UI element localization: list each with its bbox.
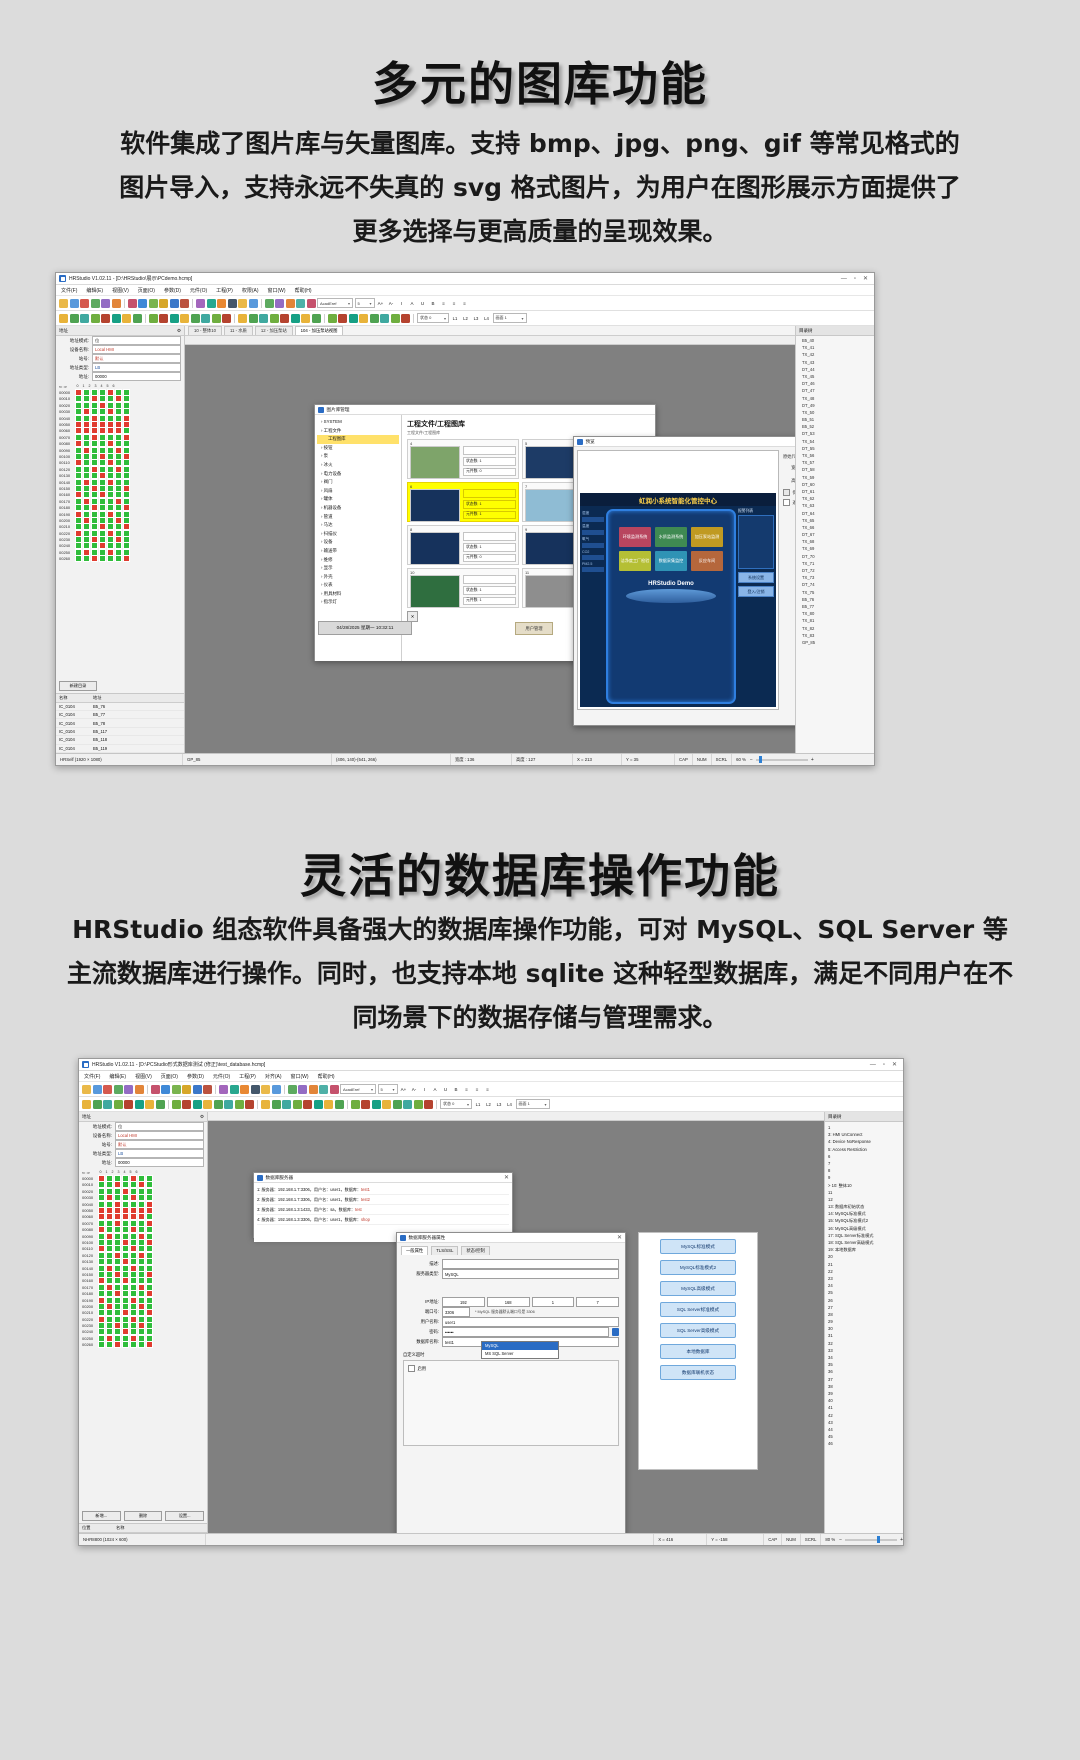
toolbar-icon-30[interactable] <box>382 1100 391 1109</box>
demo-button-3[interactable]: SQL Server标准模式 <box>660 1302 736 1317</box>
toolbar-icon-28[interactable] <box>338 314 347 323</box>
toolbar-icon-19[interactable] <box>272 1085 281 1094</box>
tree-item[interactable]: 34 <box>828 1354 903 1361</box>
toolbar-icon-10[interactable] <box>159 299 168 308</box>
bit-cell[interactable] <box>146 1341 153 1348</box>
font-family-combo[interactable]: AcadEref▾ <box>317 298 353 308</box>
toolbar-icon-5[interactable] <box>112 299 121 308</box>
tree-item[interactable]: TX_65 <box>802 517 874 524</box>
layer-toggle-1[interactable]: L2 <box>484 1100 493 1109</box>
server-list-close-icon[interactable]: ✕ <box>504 1175 509 1181</box>
picture-card-2[interactable]: 6状态数: 1元件数: 1 <box>407 482 519 522</box>
tree-item[interactable]: 36 <box>828 1368 903 1375</box>
menu-item-2[interactable]: 视图(V) <box>135 1073 152 1080</box>
toolbar-icon-0[interactable] <box>82 1085 91 1094</box>
field-value-2[interactable]: 默认 <box>92 354 181 363</box>
field-value-2[interactable]: 默认 <box>115 1140 204 1149</box>
toolbar-icon-16[interactable] <box>245 1100 254 1109</box>
address-button-0[interactable]: 新增... <box>82 1511 121 1521</box>
close-icon[interactable]: ✕ <box>863 276 868 282</box>
new-directory-button[interactable]: 新建目录 <box>59 681 97 691</box>
tree-item[interactable]: TX_66 <box>802 524 874 531</box>
tree-item[interactable]: DT_47 <box>802 387 874 394</box>
toolbar-icon-25[interactable] <box>307 299 316 308</box>
toolbar-icon-15[interactable] <box>235 1100 244 1109</box>
tree-item[interactable]: TX_81 <box>802 617 874 624</box>
page-tab-1[interactable]: 11 - 水质 <box>224 326 253 335</box>
hmi-button-3[interactable]: 洁净度工厂检验 <box>619 551 651 571</box>
option-mssql[interactable]: MS SQL Server <box>482 1350 558 1358</box>
toolbar-icon-11[interactable] <box>193 1100 202 1109</box>
toolbar-icon-7[interactable] <box>128 299 137 308</box>
tree-item[interactable]: DT_67 <box>802 531 874 538</box>
bit-nav-icon[interactable]: ⇐ ⇒ <box>82 1170 97 1175</box>
desc-input[interactable] <box>442 1259 619 1269</box>
toolbar-icon-16[interactable] <box>217 299 226 308</box>
tree-item[interactable]: DT_44 <box>802 366 874 373</box>
toolbar-icon-1[interactable] <box>70 299 79 308</box>
tree-item[interactable]: 46 <box>828 1440 903 1447</box>
text-style-5[interactable]: B <box>452 1085 461 1094</box>
toolbar-icon-0[interactable] <box>59 314 68 323</box>
tree-item[interactable]: TX_42 <box>802 351 874 358</box>
pic-tree-node-9[interactable]: › 罐体 <box>317 495 399 504</box>
toolbar-icon-9[interactable] <box>172 1085 181 1094</box>
tree-item[interactable]: TX_43 <box>802 359 874 366</box>
toolbar-icon-33[interactable] <box>391 314 400 323</box>
toolbar-icon-7[interactable] <box>133 314 142 323</box>
toolbar-icon-14[interactable] <box>196 299 205 308</box>
demo-button-6[interactable]: 数据库联机状态 <box>660 1365 736 1380</box>
tree-item[interactable]: 27 <box>828 1304 903 1311</box>
menu-item-0[interactable]: 文件(F) <box>84 1073 100 1080</box>
field-value-3[interactable]: LB <box>115 1149 204 1158</box>
bit-cell[interactable] <box>123 555 130 562</box>
zoom-slider[interactable] <box>845 1539 897 1541</box>
bit-cell[interactable] <box>91 555 98 562</box>
panel-pin-icon[interactable]: ⚙ <box>200 1114 204 1120</box>
toolbar-icon-25[interactable] <box>335 1100 344 1109</box>
tree-item[interactable]: 16: MySQL高级模式 <box>828 1225 903 1232</box>
pic-tree-node-18[interactable]: › 外壳 <box>317 573 399 582</box>
toolbar-icon-9[interactable] <box>149 314 158 323</box>
text-style-6[interactable]: ≡ <box>439 299 448 308</box>
toolbar-icon-31[interactable] <box>393 1100 402 1109</box>
picture-card-4[interactable]: 8状态数: 1元件数: 0 <box>407 525 519 565</box>
hmi-button-0[interactable]: 环境监测系统 <box>619 527 651 547</box>
toolbar-icon-5[interactable] <box>112 314 121 323</box>
address-button-1[interactable]: 删除 <box>124 1511 163 1521</box>
layer-toggle-0[interactable]: L1 <box>474 1100 483 1109</box>
user-management-button[interactable]: 用户管理 <box>515 622 553 635</box>
text-style-1[interactable]: A- <box>410 1085 419 1094</box>
tree-item[interactable]: 37 <box>828 1376 903 1383</box>
ip-octet-0[interactable]: 192 <box>442 1297 485 1307</box>
pic-tree-node-4[interactable]: › 泵 <box>317 452 399 461</box>
bit-cell[interactable] <box>107 555 114 562</box>
toolbar-icon-12[interactable] <box>180 314 189 323</box>
tree-item[interactable]: 42 <box>828 1412 903 1419</box>
field-value-0[interactable]: 位 <box>115 1122 204 1131</box>
font-size-combo[interactable]: 5▾ <box>378 1084 398 1094</box>
tree-item[interactable]: TX_73 <box>802 574 874 581</box>
db-properties-tabs[interactable]: 一般属性TLS/SSL状态/控制 <box>397 1243 625 1255</box>
tree-item[interactable]: B5_76 <box>802 596 874 603</box>
tree-item[interactable]: 32 <box>828 1340 903 1347</box>
menu-item-9[interactable]: 帮助(H) <box>295 287 312 294</box>
toolbar-icon-32[interactable] <box>380 314 389 323</box>
tree-item[interactable]: DT_55 <box>802 445 874 452</box>
state-combo[interactable]: 状态 0▾ <box>440 1099 472 1109</box>
maximize-icon[interactable]: ▫ <box>854 276 856 282</box>
hmi-button-grid[interactable]: 环境监测系统水质监测系统加压泵站监测洁净度工厂检验数据采集监控反应车间 <box>608 511 734 571</box>
field-value-0[interactable]: 位 <box>92 336 181 345</box>
toolbar-icon-4[interactable] <box>101 314 110 323</box>
toolbar-icon-33[interactable] <box>414 1100 423 1109</box>
tree-item[interactable]: TX_62 <box>802 495 874 502</box>
keep-ratio-checkbox[interactable] <box>783 489 790 496</box>
server-row-1[interactable]: 2: 服务器：192.168.1.7:3306，用户名：user1，数据库：te… <box>257 1195 509 1205</box>
db-properties-close-icon[interactable]: ✕ <box>617 1235 622 1241</box>
picture-name-input[interactable] <box>463 575 516 584</box>
toolbar-icon-13[interactable] <box>214 1100 223 1109</box>
bit-nav-icon[interactable]: ⇐ ⇒ <box>59 384 74 389</box>
tree-item[interactable]: 19: 本地数据库 <box>828 1246 903 1253</box>
layer-toggle-3[interactable]: L4 <box>505 1100 514 1109</box>
hmi-button-5[interactable]: 反应车间 <box>691 551 723 571</box>
text-style-0[interactable]: A+ <box>376 299 385 308</box>
toolbar-icon-30[interactable] <box>359 314 368 323</box>
toolbar-icon-12[interactable] <box>203 1085 212 1094</box>
bit-cell[interactable] <box>99 555 106 562</box>
toolbar-icon-5[interactable] <box>135 1085 144 1094</box>
toolbar-icon-2[interactable] <box>80 299 89 308</box>
toolbar-icon-1[interactable] <box>70 314 79 323</box>
toolbar-icon-15[interactable] <box>230 1085 239 1094</box>
demo-button-4[interactable]: SQL Server高级模式 <box>660 1323 736 1338</box>
hmi-button-1[interactable]: 水质监测系统 <box>655 527 687 547</box>
toolbar-icon-6[interactable] <box>145 1100 154 1109</box>
bit-cell[interactable] <box>122 1341 129 1348</box>
pic-tree-node-3[interactable]: › 按钮 <box>317 444 399 453</box>
tree-item[interactable]: 4: Device NoResponse <box>828 1138 903 1145</box>
tree-item[interactable]: TX_56 <box>802 452 874 459</box>
tree-item[interactable]: DT_46 <box>802 380 874 387</box>
page-tab-0[interactable]: 10 - 整体10 <box>188 326 222 335</box>
menu-item-8[interactable]: 窗口(W) <box>291 1073 309 1080</box>
picture-card-0[interactable]: 4状态数: 1元件数: 0 <box>407 439 519 479</box>
tree-item[interactable]: > 10: 整体10 <box>828 1182 903 1189</box>
toolbar-icon-3[interactable] <box>114 1100 123 1109</box>
tree-item[interactable]: 29 <box>828 1318 903 1325</box>
toolbar-icon-20[interactable] <box>259 314 268 323</box>
pic-tree-node-12[interactable]: › 马达 <box>317 521 399 530</box>
close-icon[interactable]: ✕ <box>892 1062 897 1068</box>
menu-item-6[interactable]: 工程(P) <box>216 287 233 294</box>
server-type-combo[interactable]: MySQL <box>442 1269 619 1279</box>
tree-item[interactable]: DT_53 <box>802 430 874 437</box>
tree-item[interactable]: TX_63 <box>802 502 874 509</box>
tree-item[interactable]: 6 <box>828 1153 903 1160</box>
toolbar-icon-32[interactable] <box>403 1100 412 1109</box>
object-tree-list[interactable]: B5_40TX_41TX_42TX_43DT_44TX_45DT_46DT_47… <box>796 336 874 646</box>
toolbar-icon-4[interactable] <box>124 1100 133 1109</box>
menu-item-4[interactable]: 参数(D) <box>164 287 181 294</box>
toolbar-icon-24[interactable] <box>319 1085 328 1094</box>
tree-item[interactable]: 25 <box>828 1289 903 1296</box>
minimize-icon[interactable]: — <box>870 1062 876 1068</box>
toolbar-icon-7[interactable] <box>151 1085 160 1094</box>
tree-item[interactable]: 40 <box>828 1397 903 1404</box>
demo-button-5[interactable]: 本地数据库 <box>660 1344 736 1359</box>
tree-item[interactable]: 33 <box>828 1347 903 1354</box>
toolbar-icon-11[interactable] <box>170 299 179 308</box>
pic-tree-node-7[interactable]: › 阀门 <box>317 478 399 487</box>
bit-cell[interactable] <box>130 1341 137 1348</box>
toolbar-icon-21[interactable] <box>293 1100 302 1109</box>
toolbar-icon-18[interactable] <box>238 299 247 308</box>
toolbar-icon-23[interactable] <box>286 299 295 308</box>
tree-item[interactable]: TX_54 <box>802 438 874 445</box>
text-style-1[interactable]: A- <box>387 299 396 308</box>
image-preview-dialog[interactable]: 预览 ✕ 虹润小系统智能化管控中心 湿度温度氧气CO2PM2.5 环境监测系统水… <box>573 436 795 726</box>
toolbar-icon-34[interactable] <box>424 1100 433 1109</box>
minimize-icon[interactable]: — <box>841 276 847 282</box>
tree-item[interactable]: TX_75 <box>802 589 874 596</box>
page-tab-3[interactable]: 104 - 加压泵站视图 <box>295 326 344 335</box>
text-style-7[interactable]: ≡ <box>473 1085 482 1094</box>
tree-item[interactable]: 20 <box>828 1253 903 1260</box>
toolbar-icon-0[interactable] <box>59 299 68 308</box>
tree-item[interactable]: 38 <box>828 1383 903 1390</box>
pic-tree-node-0[interactable]: › SYSTEM <box>317 418 399 427</box>
text-style-7[interactable]: ≡ <box>450 299 459 308</box>
pic-tree-node-16[interactable]: › 维修 <box>317 556 399 565</box>
tree-item[interactable]: 5: Access Restriction <box>828 1146 903 1153</box>
server-type-dropdown[interactable]: MySQL MS SQL Server <box>481 1341 559 1359</box>
username-input[interactable]: user1 <box>442 1317 619 1327</box>
bit-cell[interactable] <box>83 555 90 562</box>
toolbar-icon-27[interactable] <box>351 1100 360 1109</box>
menu-item-3[interactable]: 页面(O) <box>161 1073 178 1080</box>
toolbar-icon-8[interactable] <box>138 299 147 308</box>
tree-item[interactable]: B5_52 <box>802 423 874 430</box>
demo-button-2[interactable]: MySQL高级模式 <box>660 1281 736 1296</box>
toolbar-icon-16[interactable] <box>222 314 231 323</box>
toolbar-icon-8[interactable] <box>161 1085 170 1094</box>
text-style-0[interactable]: A+ <box>399 1085 408 1094</box>
text-style-2[interactable]: I <box>397 299 406 308</box>
toolbar-icon-6[interactable] <box>122 314 131 323</box>
tree-item[interactable]: 41 <box>828 1404 903 1411</box>
toolbar-icon-27[interactable] <box>328 314 337 323</box>
tree-item[interactable]: B5_40 <box>802 337 874 344</box>
picture-name-input[interactable] <box>463 532 516 541</box>
tree-item[interactable]: DT_72 <box>802 567 874 574</box>
field-value-3[interactable]: LB <box>92 363 181 372</box>
toolbar-icon-1[interactable] <box>93 1100 102 1109</box>
database-server-properties-dialog[interactable]: 数据库服务器属性 ✕ 一般属性TLS/SSL状态/控制 描述: 服务器类型: M… <box>396 1232 626 1543</box>
toolbar-icon-9[interactable] <box>172 1100 181 1109</box>
menu-item-2[interactable]: 视图(V) <box>112 287 129 294</box>
server-row-3[interactable]: 4: 服务器：192.168.1.3:3306，用户名：user1，数据库：sh… <box>257 1215 509 1225</box>
tree-item[interactable]: 28 <box>828 1311 903 1318</box>
bit-cell[interactable] <box>114 1341 121 1348</box>
text-style-3[interactable]: A <box>408 299 417 308</box>
tree-item[interactable]: 31 <box>828 1332 903 1339</box>
zoom-slider[interactable] <box>756 759 808 761</box>
address-button-2[interactable]: 设置... <box>165 1511 204 1521</box>
toolbar-icon-19[interactable] <box>249 314 258 323</box>
state-combo[interactable]: 状态 0▾ <box>417 313 449 323</box>
pic-tree-node-13[interactable]: › 扫描仪 <box>317 530 399 539</box>
show-password-icon[interactable] <box>612 1328 619 1336</box>
text-style-3[interactable]: A <box>431 1085 440 1094</box>
toolbar-icon-24[interactable] <box>296 299 305 308</box>
toolbar-icon-7[interactable] <box>156 1100 165 1109</box>
toolbar-icon-3[interactable] <box>91 314 100 323</box>
zoom-slider-thumb[interactable] <box>877 1536 880 1543</box>
pic-tree-node-6[interactable]: › 电力设备 <box>317 470 399 479</box>
address-action-buttons[interactable]: 新增...删除设置... <box>79 1509 207 1523</box>
tree-item[interactable]: 23 <box>828 1275 903 1282</box>
tree-item[interactable]: B5_77 <box>802 603 874 610</box>
toolbar-icon-24[interactable] <box>324 1100 333 1109</box>
page-combo[interactable]: 画面 1▾ <box>516 1099 550 1109</box>
demo-button-1[interactable]: MySQL标准模式2 <box>660 1260 736 1275</box>
pic-tree-node-1[interactable]: › 工程文件 <box>317 427 399 436</box>
bit-cell[interactable] <box>106 1341 113 1348</box>
tree-item[interactable]: TX_68 <box>802 538 874 545</box>
toolbar-icon-22[interactable] <box>298 1085 307 1094</box>
toolbar-icon-22[interactable] <box>275 299 284 308</box>
tree-item[interactable]: GP_85 <box>802 639 874 646</box>
picture-name-input[interactable] <box>463 489 516 498</box>
toolbar-icon-29[interactable] <box>372 1100 381 1109</box>
text-style-4[interactable]: U <box>418 299 427 308</box>
toolbar-icon-19[interactable] <box>272 1100 281 1109</box>
tree-item[interactable]: TX_82 <box>802 625 874 632</box>
tree-item[interactable]: DT_64 <box>802 510 874 517</box>
tree-item[interactable]: 12 <box>828 1196 903 1203</box>
tree-item[interactable]: 44 <box>828 1426 903 1433</box>
tree-item[interactable]: TX_41 <box>802 344 874 351</box>
ip-octet-2[interactable]: 1 <box>532 1297 575 1307</box>
menu-item-1[interactable]: 编辑(E) <box>86 287 103 294</box>
server-row-2[interactable]: 3: 服务器：192.168.1.3:1433，用户名：sa，数据库：test <box>257 1205 509 1215</box>
toolbar-icon-17[interactable] <box>251 1085 260 1094</box>
ip-address-input[interactable]: 19216817 <box>442 1297 619 1307</box>
tree-item[interactable]: 45 <box>828 1433 903 1440</box>
toolbar-icon-11[interactable] <box>170 314 179 323</box>
menu-item-7[interactable]: 权限(A) <box>242 287 259 294</box>
toolbar-icon-21[interactable] <box>265 299 274 308</box>
db-tab-0[interactable]: 一般属性 <box>401 1246 428 1255</box>
toolbar-icon-0[interactable] <box>82 1100 91 1109</box>
toolbar-icon-23[interactable] <box>309 1085 318 1094</box>
pic-tree-node-15[interactable]: › 输送带 <box>317 547 399 556</box>
menu-item-6[interactable]: 工程(P) <box>239 1073 256 1080</box>
toolbar-icon-12[interactable] <box>180 299 189 308</box>
address-bit-grid[interactable]: ⇐ ⇒0123456000000001000020000300004000050… <box>56 381 184 679</box>
toolbar-icon-17[interactable] <box>228 299 237 308</box>
ip-octet-1[interactable]: 168 <box>487 1297 530 1307</box>
toolbar-icon-13[interactable] <box>191 314 200 323</box>
option-mysql[interactable]: MySQL <box>482 1342 558 1350</box>
menu-item-0[interactable]: 文件(F) <box>61 287 77 294</box>
toolbar-icon-22[interactable] <box>303 1100 312 1109</box>
toolbar-icon-18[interactable] <box>261 1085 270 1094</box>
tree-item[interactable]: B5_51 <box>802 416 874 423</box>
toolbar-icon-21[interactable] <box>288 1085 297 1094</box>
tree-item[interactable]: 1 <box>828 1124 903 1131</box>
pic-tree-node-14[interactable]: › 设备 <box>317 538 399 547</box>
database-server-list-dialog[interactable]: 数据库服务器 ✕ 1: 服务器：192.168.1.7:3306，用户名：use… <box>253 1172 513 1238</box>
page-tab-2[interactable]: 12 - 加压泵站 <box>255 326 293 335</box>
toolbar-icon-20[interactable] <box>282 1100 291 1109</box>
toolbar-icon-29[interactable] <box>349 314 358 323</box>
toolbar-icon-3[interactable] <box>91 299 100 308</box>
text-style-5[interactable]: B <box>429 299 438 308</box>
table-row[interactable]: IC_0104B5_77 <box>56 711 184 719</box>
field-value-1[interactable]: Local HMI <box>115 1131 204 1140</box>
timeout-enable-checkbox[interactable] <box>408 1365 415 1372</box>
toolbar-icon-4[interactable] <box>101 299 110 308</box>
bit-cell[interactable] <box>138 1341 145 1348</box>
toolbar-icon-19[interactable] <box>249 299 258 308</box>
tree-item[interactable]: TX_57 <box>802 459 874 466</box>
field-value-4[interactable]: 00000 <box>92 372 181 381</box>
tree-item[interactable]: 43 <box>828 1419 903 1426</box>
tree-item[interactable]: 39 <box>828 1390 903 1397</box>
tree-item[interactable]: TX_80 <box>802 610 874 617</box>
toolbar-icon-23[interactable] <box>314 1100 323 1109</box>
pic-tree-node-8[interactable]: › 风扇 <box>317 487 399 496</box>
toolbar-icon-3[interactable] <box>114 1085 123 1094</box>
toolbar-icon-23[interactable] <box>291 314 300 323</box>
tree-item[interactable]: 15: MySQL标准模式2 <box>828 1217 903 1224</box>
object-tree-list[interactable]: 13: HMI UnConnect4: Device NoResponse5: … <box>825 1122 903 1447</box>
toolbar-icon-31[interactable] <box>370 314 379 323</box>
server-row-0[interactable]: 1: 服务器：192.168.1.7:3306，用户名：user1，数据库：te… <box>257 1185 509 1195</box>
toolbar-icon-10[interactable] <box>159 314 168 323</box>
tree-item[interactable]: TX_48 <box>802 395 874 402</box>
table-row[interactable]: IC_0104B5_78 <box>56 719 184 727</box>
toolbar-icon-2[interactable] <box>103 1100 112 1109</box>
menu-item-7[interactable]: 对齐(A) <box>265 1073 282 1080</box>
bit-cell[interactable] <box>98 1341 105 1348</box>
table-row[interactable]: IC_0104B5_119 <box>56 745 184 753</box>
toolbar-icon-12[interactable] <box>203 1100 212 1109</box>
pic-tree-node-11[interactable]: › 管道 <box>317 513 399 522</box>
text-style-8[interactable]: ≡ <box>460 299 469 308</box>
field-value-4[interactable]: 00000 <box>115 1158 204 1167</box>
transparent-checkbox[interactable] <box>783 499 790 506</box>
tree-item[interactable]: DT_61 <box>802 488 874 495</box>
toolbar-icon-9[interactable] <box>149 299 158 308</box>
tree-item[interactable]: TX_45 <box>802 373 874 380</box>
toolbar-icon-18[interactable] <box>238 314 247 323</box>
menu-item-1[interactable]: 编辑(E) <box>109 1073 126 1080</box>
tree-item[interactable]: 8 <box>828 1167 903 1174</box>
layer-toggle-2[interactable]: L3 <box>495 1100 504 1109</box>
tree-item[interactable]: 14: MySQL标准模式 <box>828 1210 903 1217</box>
toolbar-icon-1[interactable] <box>93 1085 102 1094</box>
text-style-4[interactable]: U <box>441 1085 450 1094</box>
maximize-icon[interactable]: ▫ <box>883 1062 885 1068</box>
address-bit-grid[interactable]: ⇐ ⇒0123456000000001000020000300004000050… <box>79 1167 207 1509</box>
tree-item[interactable]: TX_83 <box>802 632 874 639</box>
